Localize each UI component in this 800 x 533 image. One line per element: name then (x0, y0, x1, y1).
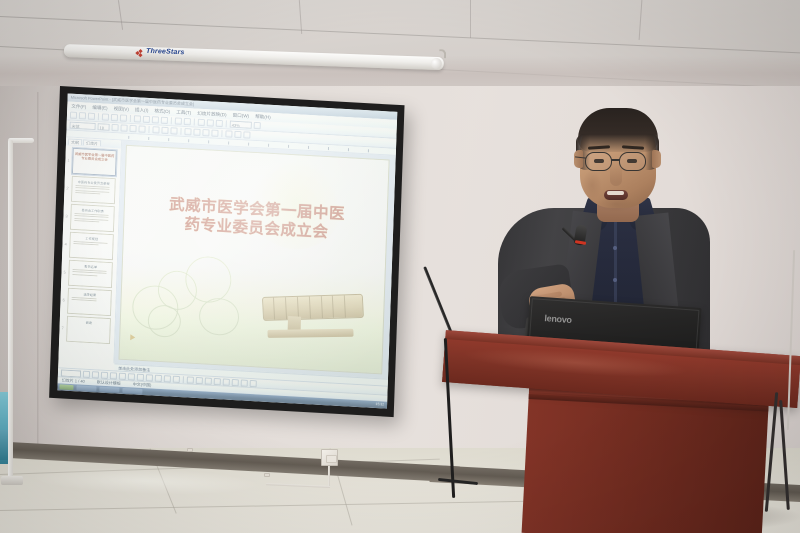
menu-item-view[interactable]: 视图(V) (114, 106, 130, 113)
menu-item-help[interactable]: 帮助(H) (255, 113, 271, 120)
taskbar-item-powerpoint[interactable] (122, 388, 142, 394)
shadow-style-icon[interactable] (241, 379, 248, 386)
text-cursor-marker (131, 334, 136, 340)
copy-icon[interactable] (143, 116, 150, 123)
slide-thumbnail-4[interactable]: 4 工作规划 (69, 232, 114, 260)
ear-left (574, 150, 583, 168)
powerpoint-window: Microsoft PowerPoint - [武威市医学会第一届中医药专业委员… (57, 93, 397, 408)
threestars-logo-icon (136, 50, 143, 57)
taskbar-item-2[interactable] (99, 387, 119, 393)
spellcheck-icon[interactable] (120, 114, 127, 121)
insert-chart-icon[interactable] (207, 119, 214, 126)
italic-icon[interactable] (120, 124, 127, 131)
thumbnail-number: 5 (63, 269, 65, 274)
bamboo-scroll-artwork (256, 290, 368, 347)
wordart-icon[interactable] (146, 374, 153, 381)
eyeglasses-lens-right (619, 152, 646, 171)
font-color-icon[interactable] (225, 130, 232, 137)
menu-item-tools[interactable]: 工具(T) (176, 109, 191, 116)
select-arrow-icon[interactable] (83, 370, 90, 377)
picture-icon[interactable] (173, 375, 180, 382)
fill-color-icon[interactable] (187, 376, 194, 383)
slide-thumbnail-7[interactable]: 7 谢谢 (66, 316, 111, 344)
bold-icon[interactable] (111, 124, 118, 131)
wall-corner (37, 92, 40, 482)
scroll-foot (268, 329, 354, 338)
stand-pole (8, 140, 13, 480)
print-preview-icon[interactable] (111, 114, 118, 121)
oval-icon[interactable] (128, 373, 135, 380)
thumbnail-number: 6 (62, 297, 64, 302)
increase-font-icon[interactable] (202, 129, 209, 136)
zoom-combo[interactable]: 43% (230, 121, 252, 129)
arrow-icon[interactable] (110, 372, 117, 379)
thumbnail-number: 4 (64, 241, 66, 246)
dash-style-icon[interactable] (223, 378, 230, 385)
rectangle-icon[interactable] (119, 372, 126, 379)
scroll-body (262, 294, 364, 321)
eyeglasses-lens-left (585, 152, 612, 171)
current-slide[interactable]: 武威市医学会第一届中医 药专业委员会成立会 (118, 145, 389, 375)
stand-base (1, 476, 23, 485)
housing-end-cap (431, 58, 442, 69)
slide-editing-stage[interactable]: 武威市医学会第一届中医 药专业委员会成立会 (114, 141, 395, 379)
line-style-icon[interactable] (214, 377, 221, 384)
thumbnail-number: 1 (67, 158, 69, 163)
save-icon[interactable] (88, 113, 95, 120)
thumbnail-number: 3 (65, 213, 67, 218)
help-icon[interactable] (254, 122, 261, 129)
print-icon[interactable] (102, 113, 109, 120)
numbering-icon[interactable] (193, 129, 200, 136)
diagram-icon[interactable] (155, 374, 162, 381)
menu-item-edit[interactable]: 编辑(E) (92, 104, 108, 111)
arrow-style-icon[interactable] (232, 378, 239, 385)
line-icon[interactable] (101, 371, 108, 378)
menu-item-format[interactable]: 格式(O) (154, 108, 170, 115)
taskbar-item-1[interactable] (76, 385, 96, 391)
decrease-font-icon[interactable] (211, 130, 218, 137)
thumbnail-title: 武威市医学会第一届中医药专业委员会成立会 (73, 149, 115, 163)
ear-right (652, 150, 661, 168)
mouth (604, 190, 628, 200)
align-right-icon[interactable] (170, 127, 177, 134)
conference-room-photo: ThreeStars Microsoft PowerPoint - [武威市医学… (0, 0, 800, 533)
font-size-combo[interactable]: 18 (97, 123, 109, 131)
design-icon[interactable] (234, 131, 241, 138)
new-icon[interactable] (70, 112, 77, 119)
clipart-icon[interactable] (164, 375, 171, 382)
redo-icon[interactable] (184, 118, 191, 125)
paste-icon[interactable] (152, 116, 159, 123)
screen-surface: Microsoft PowerPoint - [武威市医学会第一届中医药专业委员… (57, 93, 397, 408)
slide-thumbnail-6[interactable]: 6 选举结果 (67, 288, 112, 316)
thumbnail-title: 谢谢 (68, 319, 110, 326)
eyeglasses-bridge (611, 159, 620, 161)
tab-slides[interactable]: 幻炇片 (83, 139, 101, 146)
slide-thumbnail-5[interactable]: 5 委员名单 (68, 260, 113, 288)
menu-item-insert[interactable]: 插入(I) (135, 107, 149, 114)
slide-thumbnail-2[interactable]: 2 中医药专业委员会章程 (71, 176, 116, 204)
autoshapes-icon[interactable] (92, 371, 99, 378)
undo-icon[interactable] (175, 117, 182, 124)
shirt-button (613, 278, 617, 282)
slide-thumbnail-panel[interactable]: 大纲 幻炇片 1 武威市医学会第一届中医药专业委员会成立会 2 中医药专业委员会… (58, 137, 122, 363)
bullets-icon[interactable] (184, 128, 191, 135)
underline-icon[interactable] (129, 125, 136, 132)
projection-screen: Microsoft PowerPoint - [武威市医学会第一届中医药专业委员… (49, 86, 404, 417)
panel-tabs[interactable]: 大纲 幻炇片 (66, 137, 121, 148)
format-painter-icon[interactable] (161, 117, 168, 124)
start-button[interactable] (59, 384, 73, 390)
insert-table-icon[interactable] (198, 119, 205, 126)
tab-outline[interactable]: 大纲 (68, 139, 82, 146)
font-name-combo[interactable]: 宋体 (70, 122, 96, 130)
menu-item-window[interactable]: 窗口(W) (232, 112, 249, 119)
shirt-button (613, 246, 617, 250)
teeth (607, 191, 624, 195)
new-slide-icon[interactable] (243, 131, 250, 138)
hyperlink-icon[interactable] (216, 120, 223, 127)
line-color-icon[interactable] (196, 376, 203, 383)
cable-conduit-vertical (328, 466, 330, 488)
font-color-draw-icon[interactable] (205, 377, 212, 384)
textbox-icon[interactable] (137, 373, 144, 380)
projector-brand-label: ThreeStars (146, 48, 185, 56)
menu-item-slideshow[interactable]: 幻炇片放映(D) (197, 110, 227, 118)
laptop-brand-label: lenovo (544, 313, 572, 325)
thumbnail-number: 2 (66, 185, 68, 190)
align-left-icon[interactable] (152, 126, 159, 133)
screen-pull-hook-icon[interactable] (439, 49, 446, 58)
3d-style-icon[interactable] (250, 379, 257, 386)
thumbnail-number: 7 (61, 325, 63, 330)
conduit-clip (187, 448, 193, 452)
nose (610, 164, 622, 186)
system-tray-clock[interactable]: 15:32 (350, 401, 386, 408)
wall-outlet-box (321, 449, 338, 466)
menu-item-file[interactable]: 文件(F) (71, 103, 86, 110)
shadow-icon[interactable] (138, 125, 145, 132)
conduit-clip (264, 473, 270, 477)
align-center-icon[interactable] (161, 127, 168, 134)
cut-icon[interactable] (134, 115, 141, 122)
open-icon[interactable] (79, 112, 86, 119)
slide-thumbnail-3[interactable]: 3 委员会工作职责 (70, 204, 115, 232)
slide-thumbnail-1[interactable]: 1 武威市医学会第一届中医药专业委员会成立会 (72, 148, 117, 176)
